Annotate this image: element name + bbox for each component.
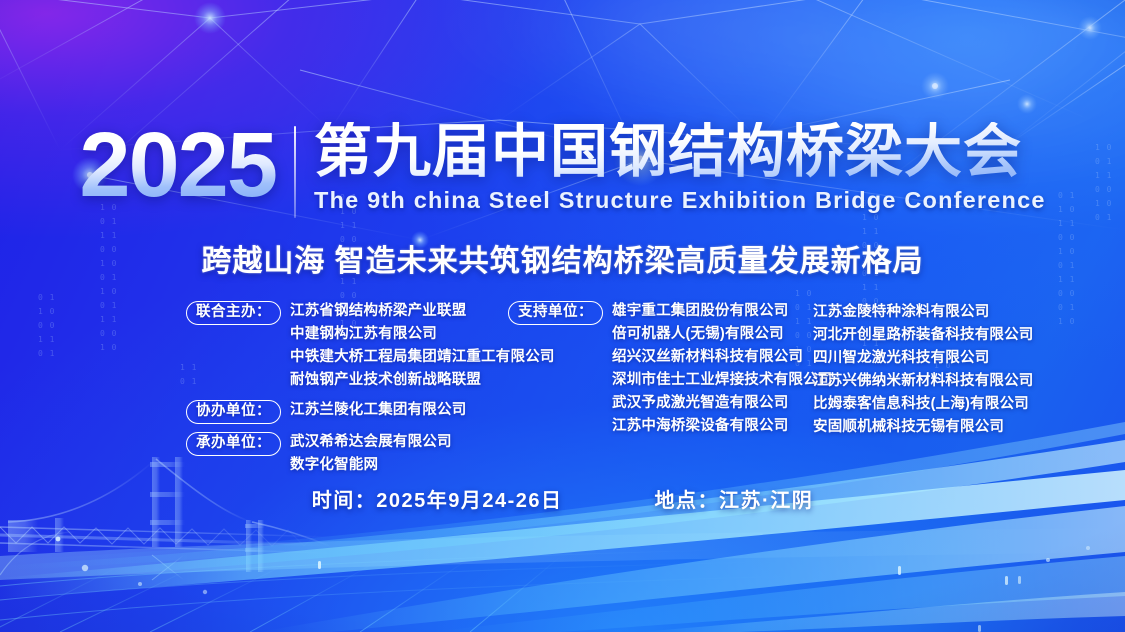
list-item: 四川智龙激光科技有限公司 [813, 347, 1077, 370]
event-date: 时间：2025年9月24-26日 [312, 484, 563, 513]
sponsor-group-supporters: 支持单位： 雄宇重工集团股份有限公司 倍可机器人(无锡)有限公司 绍兴汉丝新材料… [508, 300, 804, 438]
supporters-list-col2: 江苏金陵特种涂料有限公司 河北开创星路桥装备科技有限公司 四川智龙激光科技有限公… [813, 301, 1077, 439]
sponsor-column-middle: 支持单位： 雄宇重工集团股份有限公司 倍可机器人(无锡)有限公司 绍兴汉丝新材料… [508, 300, 804, 438]
sponsor-column-left: 联合主办： 江苏省钢结构桥梁产业联盟 中建钢构江苏有限公司 中铁建大桥工程局集团… [186, 300, 508, 477]
list-item: 比姆泰客信息科技(上海)有限公司 [813, 393, 1077, 416]
event-info: 时间：2025年9月24-26日 地点：江苏·江阴 [0, 484, 1125, 513]
event-slogan: 跨越山海 智造未来共筑钢结构桥梁高质量发展新格局 [0, 236, 1125, 280]
list-item: 江苏中海桥梁设备有限公司 [612, 415, 833, 438]
event-year: 2025 [79, 122, 292, 209]
co-hosts-label: 联合主办： [186, 301, 281, 325]
conference-banner: 0 11 0 0 01 1 0 1 1 00 1 1 10 0 1 00 1 1… [0, 0, 1125, 632]
list-item: 江苏金陵特种涂料有限公司 [813, 301, 1077, 324]
list-item: 武汉予成激光智造有限公司 [612, 392, 833, 415]
list-item: 雄宇重工集团股份有限公司 [612, 300, 833, 323]
list-item: 江苏兴佛纳米新材料科技有限公司 [813, 370, 1077, 393]
banner-content: 2025 第九届中国钢结构桥梁大会 The 9th china Steel St… [0, 0, 1125, 632]
co-organizers-list: 江苏兰陵化工集团有限公司 [290, 399, 466, 422]
page-subtitle-en: The 9th china Steel Structure Exhibition… [314, 187, 1046, 214]
title-divider [294, 126, 296, 218]
list-item: 深圳市佳士工业焊接技术有限公司 [612, 369, 833, 392]
list-item: 倍可机器人(无锡)有限公司 [612, 323, 833, 346]
list-item: 绍兴汉丝新材料科技有限公司 [612, 346, 833, 369]
sponsor-group-co-organizers: 协办单位： 江苏兰陵化工集团有限公司 [186, 399, 508, 424]
sponsor-column-right: 江苏金陵特种涂料有限公司 河北开创星路桥装备科技有限公司 四川智龙激光科技有限公… [804, 300, 1077, 439]
list-item: 河北开创星路桥装备科技有限公司 [813, 324, 1077, 347]
organizers-label: 承办单位： [186, 432, 281, 456]
list-item: 安固顺机械科技无锡有限公司 [813, 416, 1077, 439]
list-item: 江苏兰陵化工集团有限公司 [290, 399, 466, 422]
event-location: 地点：江苏·江阴 [655, 484, 814, 513]
list-item: 武汉希希达会展有限公司 [290, 431, 452, 454]
sponsor-group-co-hosts: 联合主办： 江苏省钢结构桥梁产业联盟 中建钢构江苏有限公司 中铁建大桥工程局集团… [186, 300, 508, 392]
sponsor-group-organizers: 承办单位： 武汉希希达会展有限公司 数字化智能网 [186, 431, 508, 477]
organizers-list: 武汉希希达会展有限公司 数字化智能网 [290, 431, 452, 477]
co-organizers-label: 协办单位： [186, 400, 281, 424]
title-block: 第九届中国钢结构桥梁大会 The 9th china Steel Structu… [314, 122, 1046, 214]
supporters-label: 支持单位： [508, 301, 603, 325]
page-title: 第九届中国钢结构桥梁大会 [314, 122, 1046, 183]
list-item: 数字化智能网 [290, 454, 452, 477]
supporters-list-col1: 雄宇重工集团股份有限公司 倍可机器人(无锡)有限公司 绍兴汉丝新材料科技有限公司… [612, 300, 833, 438]
sponsor-section: 联合主办： 江苏省钢结构桥梁产业联盟 中建钢构江苏有限公司 中铁建大桥工程局集团… [186, 300, 1077, 477]
title-row: 2025 第九届中国钢结构桥梁大会 The 9th china Steel St… [0, 122, 1125, 218]
